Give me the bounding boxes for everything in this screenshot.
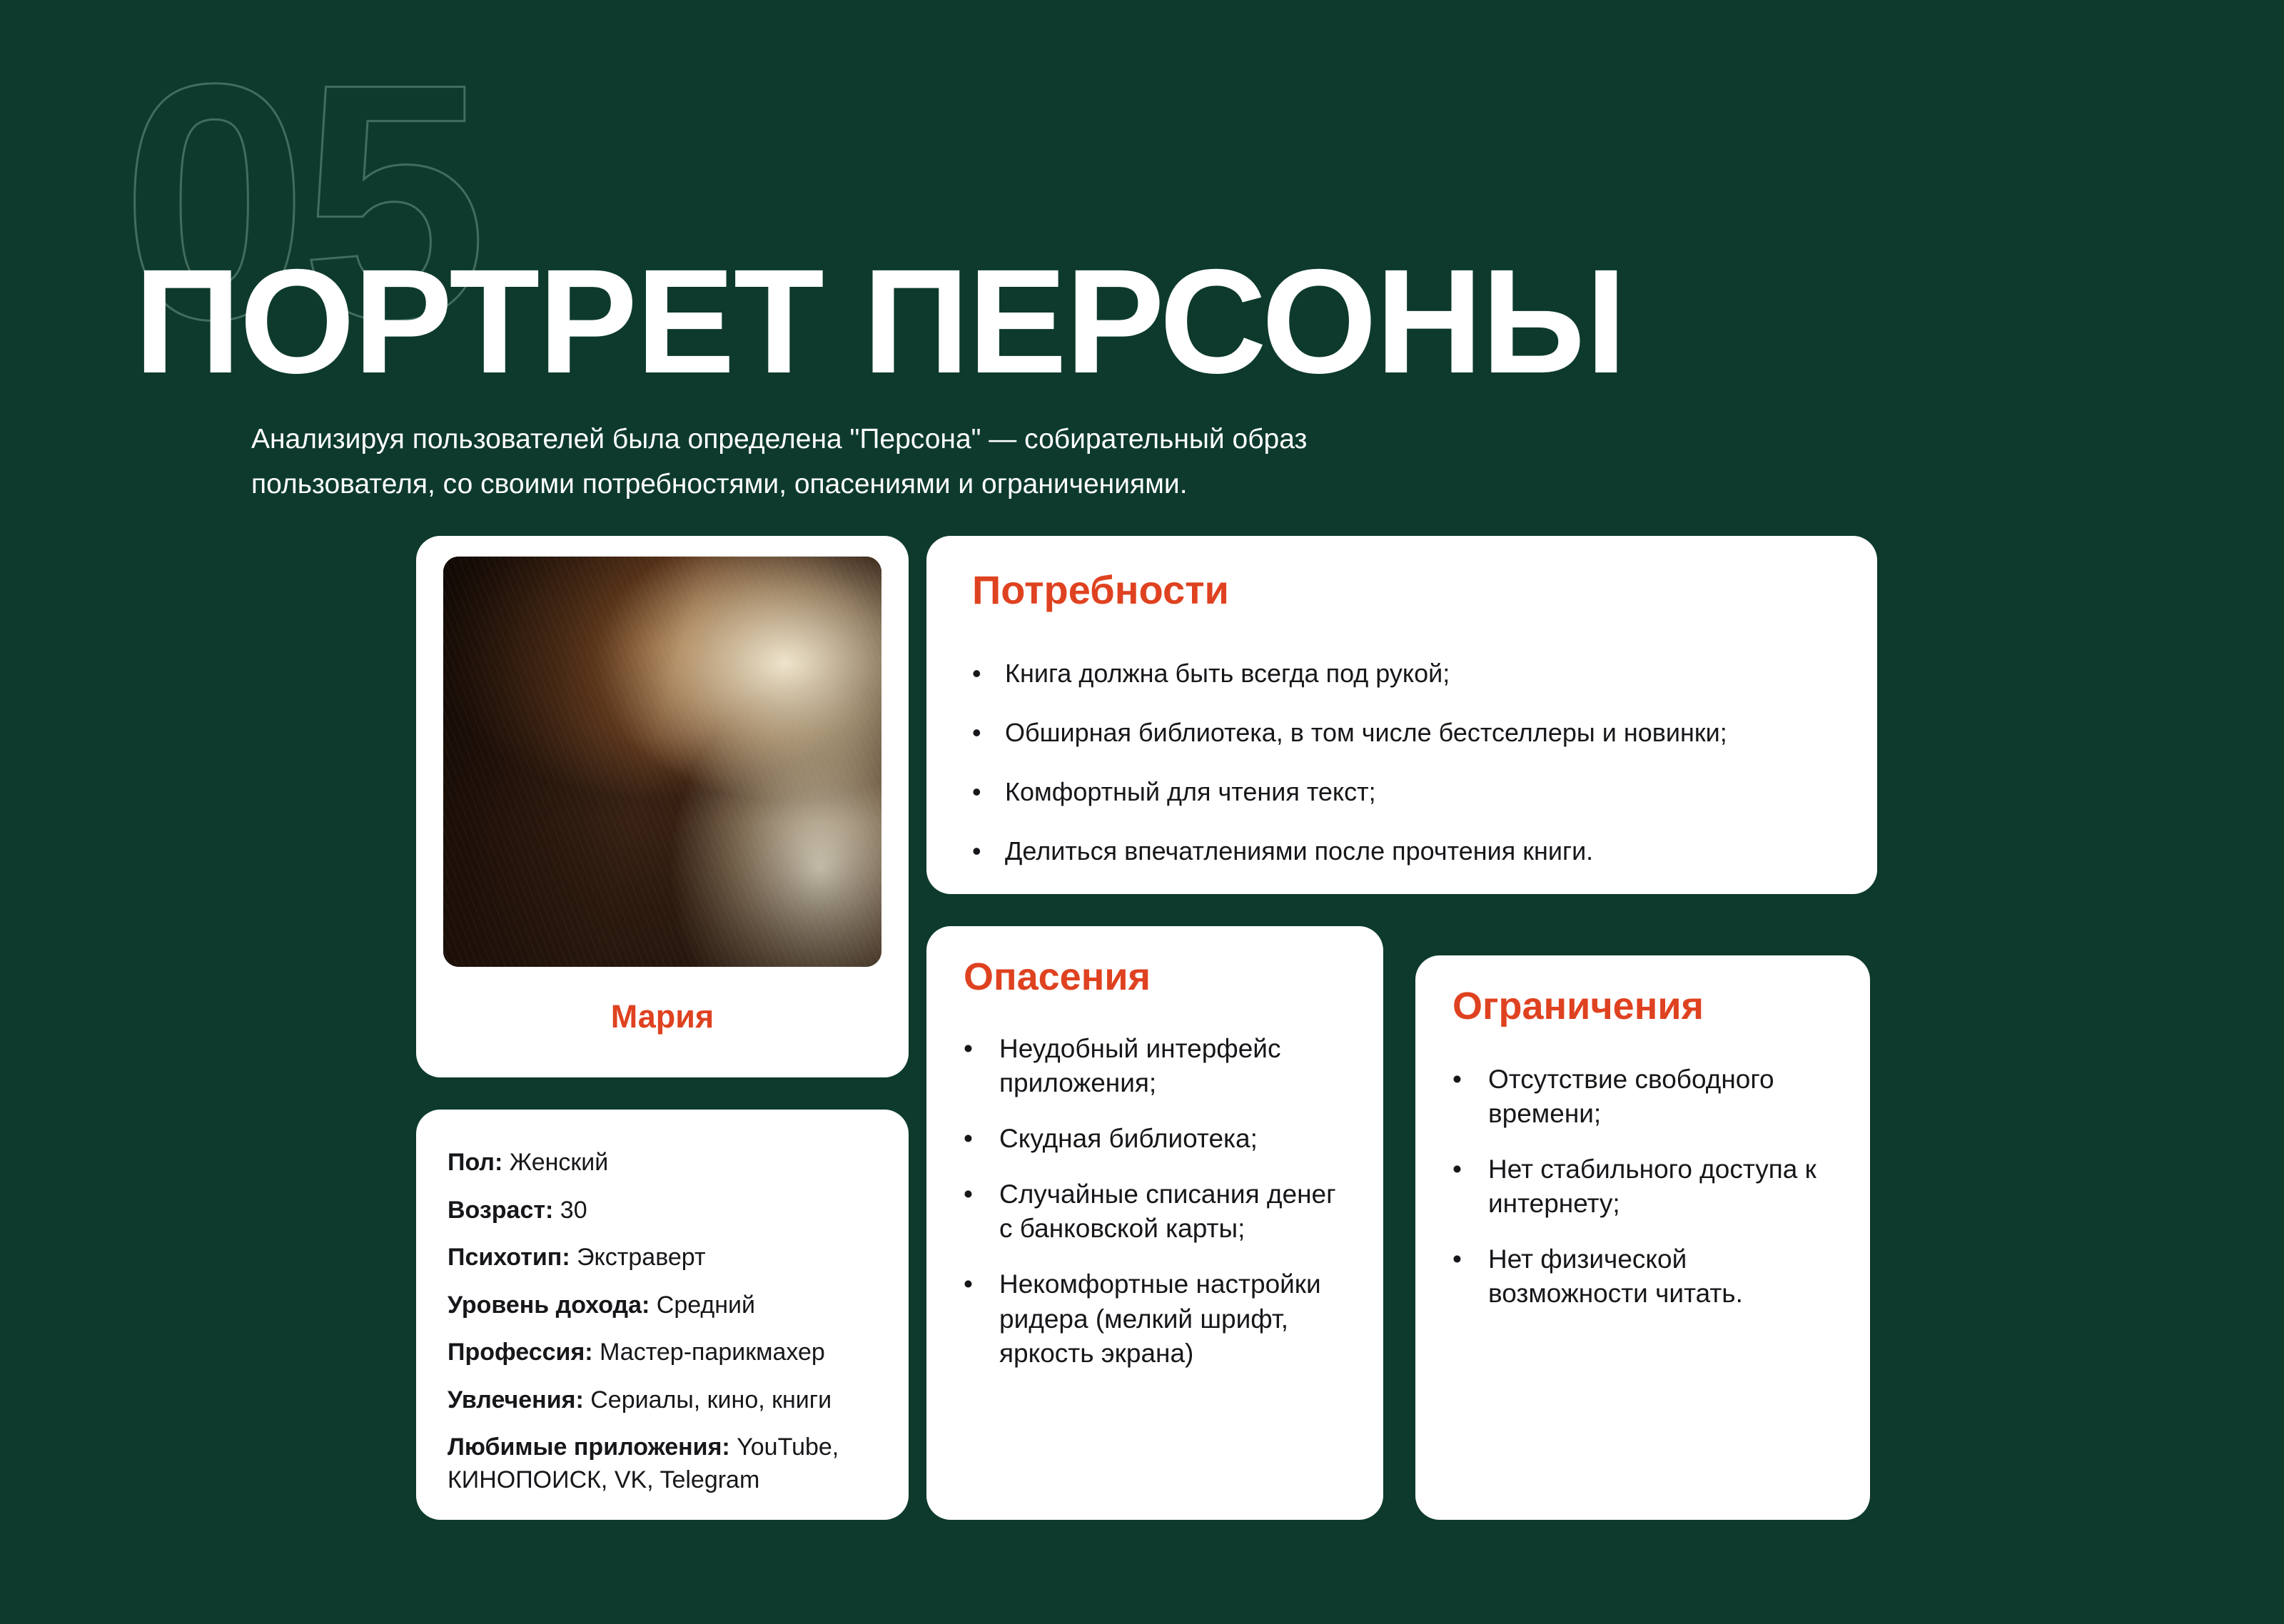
persona-details-card: Пол: Женский Возраст: 30 Психотип: Экстр… <box>416 1110 909 1520</box>
detail-value: Сериалы, кино, книги <box>590 1386 832 1414</box>
list-item: Некомфортные настройки ридера (мелкий шр… <box>964 1267 1353 1370</box>
detail-label: Психотип: <box>448 1244 570 1271</box>
detail-row: Уровень дохода: Средний <box>448 1289 877 1322</box>
detail-label: Уровень дохода: <box>448 1291 650 1319</box>
list-item: Случайные списания денег с банковской ка… <box>964 1177 1353 1246</box>
detail-label: Возраст: <box>448 1197 553 1224</box>
detail-row: Психотип: Экстраверт <box>448 1242 877 1274</box>
detail-row: Профессия: Мастер-парикмахер <box>448 1336 877 1369</box>
photo-texture-layer <box>443 557 881 967</box>
list-item: Нет стабильного доступа к интернету; <box>1452 1152 1841 1221</box>
list-item: Книга должна быть всегда под рукой; <box>972 657 1837 690</box>
detail-label: Пол: <box>448 1149 502 1176</box>
detail-row: Любимые приложения: YouTube, КИНОПОИСК, … <box>448 1431 877 1496</box>
detail-label: Увлечения: <box>448 1386 584 1414</box>
list-item: Отсутствие свободного времени; <box>1452 1062 1841 1131</box>
page-title: ПОРТРЕТ ПЕРСОНЫ <box>134 248 1625 396</box>
list-item: Делиться впечатлениями после прочтения к… <box>972 835 1837 868</box>
list-item: Неудобный интерфейс приложения; <box>964 1032 1353 1100</box>
detail-row: Увлечения: Сериалы, кино, книги <box>448 1384 877 1417</box>
persona-photo-card: Мария <box>416 536 909 1077</box>
detail-value: Мастер-парикмахер <box>600 1339 825 1366</box>
detail-value: Средний <box>657 1291 755 1319</box>
persona-name: Мария <box>416 998 909 1035</box>
detail-value: Экстраверт <box>577 1244 705 1271</box>
persona-photo <box>443 557 881 967</box>
list-item: Скудная библиотека; <box>964 1122 1353 1156</box>
fears-list: Неудобный интерфейс приложения; Скудная … <box>964 1032 1353 1371</box>
page-subtitle: Анализируя пользователей была определена… <box>251 417 1465 507</box>
detail-value: Женский <box>510 1149 609 1176</box>
limits-card: Ограничения Отсутствие свободного времен… <box>1415 955 1870 1520</box>
limits-list: Отсутствие свободного времени; Нет стаби… <box>1452 1062 1841 1311</box>
detail-row: Пол: Женский <box>448 1147 877 1179</box>
list-item: Комфортный для чтения текст; <box>972 776 1837 808</box>
needs-card: Потребности Книга должна быть всегда под… <box>926 536 1877 894</box>
fears-card-title: Опасения <box>964 958 1353 996</box>
list-item: Обширная библиотека, в том числе бестсел… <box>972 716 1837 749</box>
fears-card: Опасения Неудобный интерфейс приложения;… <box>926 926 1383 1520</box>
needs-card-title: Потребности <box>972 570 1837 610</box>
slide-root: 05 ПОРТРЕТ ПЕРСОНЫ Анализируя пользовате… <box>0 0 2284 1624</box>
detail-row: Возраст: 30 <box>448 1194 877 1227</box>
list-item: Нет физической возможности читать. <box>1452 1242 1841 1311</box>
detail-value: 30 <box>560 1197 587 1224</box>
detail-label: Профессия: <box>448 1339 593 1366</box>
limits-card-title: Ограничения <box>1452 987 1841 1025</box>
needs-list: Книга должна быть всегда под рукой; Обши… <box>972 657 1837 868</box>
detail-label: Любимые приложения: <box>448 1433 730 1461</box>
